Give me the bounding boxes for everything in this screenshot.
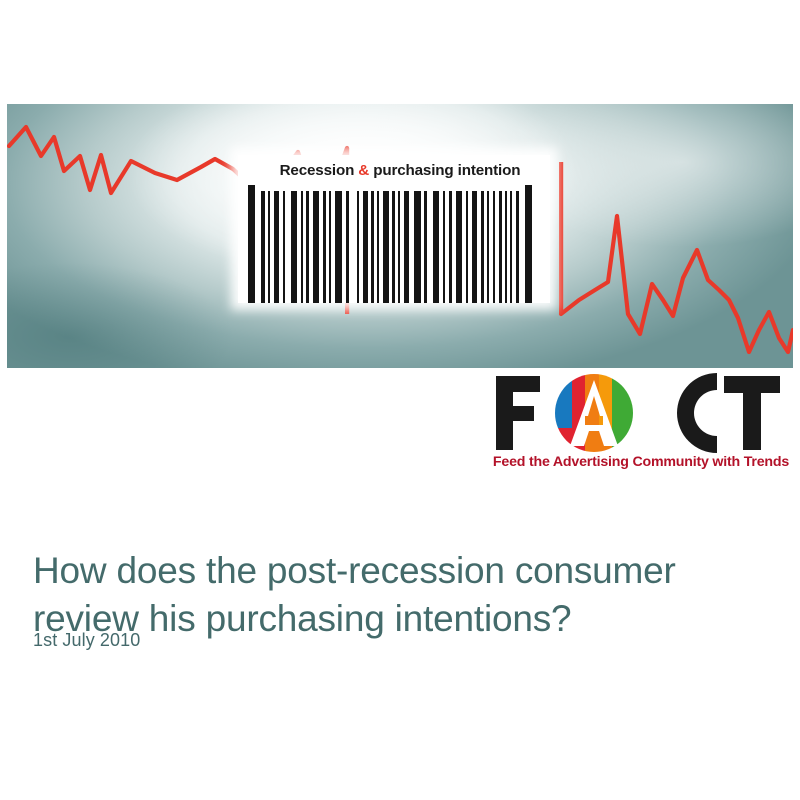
barcode-title-ampersand: & [358,162,369,179]
title-slide: Recession & purchasing intention [0,0,800,800]
barcode-title-suffix: purchasing intention [369,162,520,179]
fact-wordmark [492,372,784,454]
trend-line-right-stem [559,162,563,314]
logo-letter-t [724,376,780,450]
page-title-line-1: How does the post-recession consumer [33,547,753,595]
page-title-line-2: review his purchasing intentions? [33,595,753,643]
trend-line-right [561,216,793,352]
logo-tagline: Feed the Advertising Community with Tren… [492,454,790,470]
fact-logo: Feed the Advertising Community with Tren… [492,372,792,480]
presentation-date: 1st July 2010 [33,628,140,652]
barcode-title-prefix: Recession [280,162,359,179]
barcode-graphic: Recession & purchasing intention [238,155,550,303]
hero-banner: Recession & purchasing intention [7,104,793,368]
logo-letter-f [496,376,540,450]
barcode-title: Recession & purchasing intention [262,162,538,186]
barcode-bars [238,185,550,303]
page-title: How does the post-recession consumer rev… [33,547,753,643]
logo-letter-a-disc [555,372,634,454]
